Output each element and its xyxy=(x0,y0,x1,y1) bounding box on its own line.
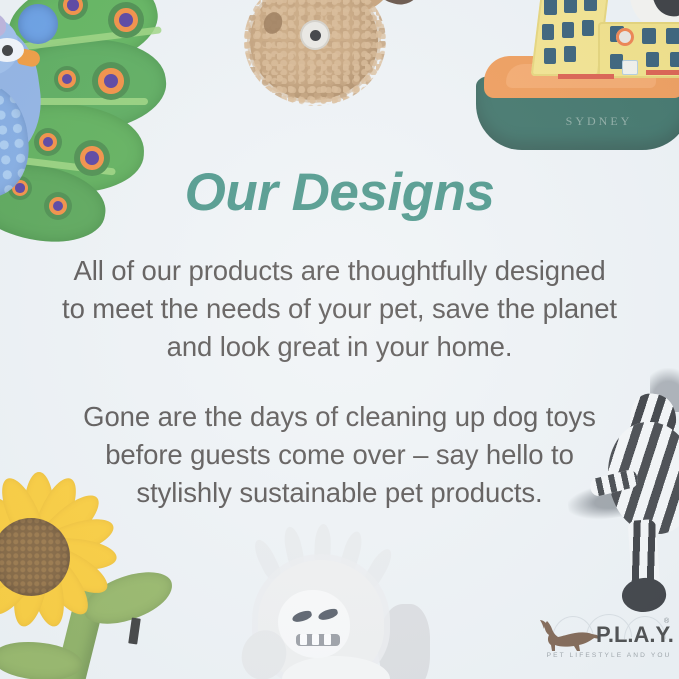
ferry-window xyxy=(584,0,597,11)
product-info-image: SYDNEY Our Designs All of our products a… xyxy=(0,0,679,679)
yeti-tooth xyxy=(312,634,319,645)
ferry-window xyxy=(670,52,679,67)
zebra-hoof xyxy=(619,574,668,615)
yeti-tooth xyxy=(324,634,331,645)
dog-silhouette-icon xyxy=(538,620,602,654)
moose-eye xyxy=(302,22,328,48)
peacock-eyespot xyxy=(54,66,80,92)
ferry-red-stripe xyxy=(646,70,679,75)
ferry-window xyxy=(562,22,574,38)
ferry-window xyxy=(544,48,556,64)
life-ring-icon xyxy=(616,28,634,46)
sydney-ferry-plush-toy: SYDNEY xyxy=(470,0,679,164)
ferry-window xyxy=(582,20,594,36)
product-tag xyxy=(128,618,141,645)
ferry-window xyxy=(542,24,554,40)
page-title: Our Designs xyxy=(0,164,679,222)
peacock-eyespot xyxy=(108,2,144,38)
ferry-window xyxy=(564,0,577,13)
logo-wordmark: P.L.A.Y. xyxy=(596,622,674,648)
body-paragraph-2: Gone are the days of cleaning up dog toy… xyxy=(60,398,619,512)
play-brand-logo: P.L.A.Y. ® PET LIFESTYLE AND YOU xyxy=(538,614,674,672)
yeti-side-fur xyxy=(378,604,430,679)
yeti-face xyxy=(278,590,350,658)
body-paragraph-1: All of our products are thoughtfully des… xyxy=(60,252,619,366)
yeti-plush-toy xyxy=(238,552,428,679)
peacock-eyespot xyxy=(34,128,62,156)
ferry-red-stripe xyxy=(558,74,614,79)
ferry-window xyxy=(544,0,557,15)
ferry-boat-name: SYDNEY xyxy=(544,114,654,129)
registered-trademark-icon: ® xyxy=(664,618,669,625)
ferry-window xyxy=(666,28,679,44)
logo-tagline: PET LIFESTYLE AND YOU xyxy=(544,652,674,659)
moose-plush-toy xyxy=(244,0,424,114)
ferry-sign xyxy=(622,60,638,75)
peacock-eyespot xyxy=(92,62,130,100)
peacock-crest-pom xyxy=(18,4,58,44)
ferry-window xyxy=(646,52,659,67)
ferry-window xyxy=(564,46,576,62)
yeti-tooth xyxy=(300,634,307,645)
ferry-window xyxy=(642,28,656,44)
